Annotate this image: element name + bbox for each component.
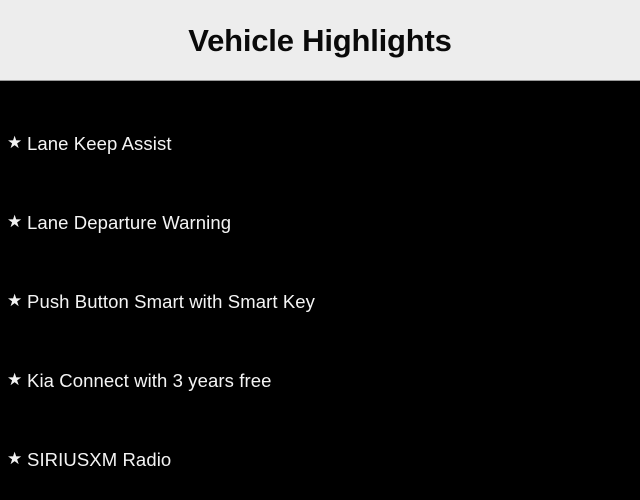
highlight-label: Lane Departure Warning <box>27 213 640 233</box>
slide-header-bar: Vehicle Highlights <box>0 0 640 81</box>
highlight-label: SIRIUSXM Radio <box>27 450 640 470</box>
list-item: ★ SIRIUSXM Radio <box>0 421 640 500</box>
list-item: ★ Lane Departure Warning <box>0 184 640 263</box>
star-icon: ★ <box>7 135 27 152</box>
list-item: ★ Kia Connect with 3 years free <box>0 342 640 421</box>
highlights-body: ★ Lane Keep Assist ★ Lane Departure Warn… <box>0 81 640 480</box>
list-item: ★ Push Button Smart with Smart Key <box>0 263 640 342</box>
vehicle-highlights-slide: Vehicle Highlights ★ Lane Keep Assist ★ … <box>0 0 640 480</box>
star-icon: ★ <box>7 293 27 310</box>
star-icon: ★ <box>7 214 27 231</box>
list-item: ★ Lane Keep Assist <box>0 105 640 184</box>
highlight-label: Lane Keep Assist <box>27 134 640 154</box>
vehicle-highlights-list: ★ Lane Keep Assist ★ Lane Departure Warn… <box>0 105 640 500</box>
star-icon: ★ <box>7 451 27 468</box>
star-icon: ★ <box>7 372 27 389</box>
highlight-label: Kia Connect with 3 years free <box>27 371 640 391</box>
highlight-label: Push Button Smart with Smart Key <box>27 292 640 312</box>
page-title: Vehicle Highlights <box>176 25 463 56</box>
